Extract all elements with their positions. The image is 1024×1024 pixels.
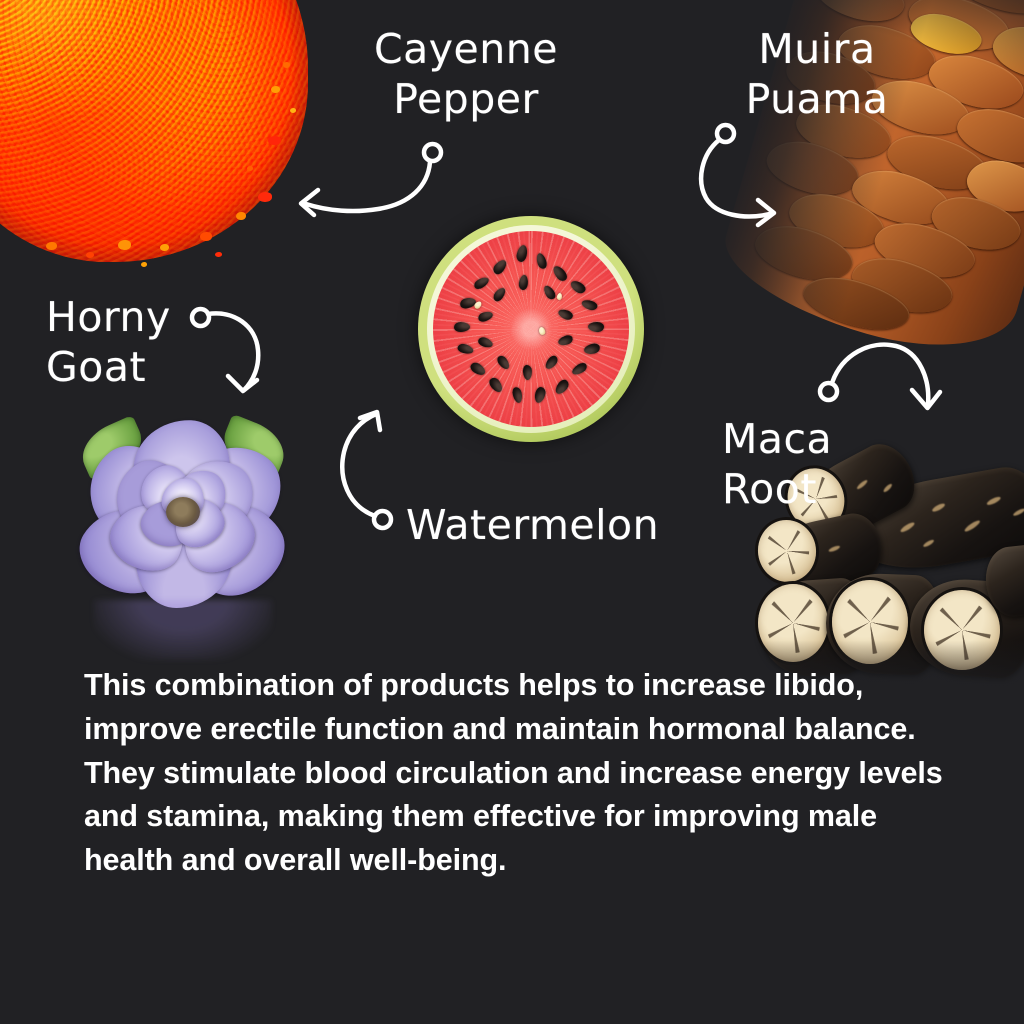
arrow-maca-root	[812, 338, 952, 428]
label-cayenne-pepper: Cayenne Pepper	[346, 24, 586, 124]
watermelon-core	[504, 302, 558, 356]
label-watermelon: Watermelon	[406, 500, 706, 550]
maca-cut-face-front-mid	[832, 580, 908, 664]
arrow-cayenne-pepper	[280, 132, 455, 227]
arrow-muira-puama	[692, 118, 802, 228]
infographic-canvas: Cayenne Pepper Muira Puama Horny Goat Ma…	[0, 0, 1024, 1024]
maca-cut-face-front-left	[758, 584, 828, 662]
arrow-watermelon	[330, 404, 410, 534]
maca-cut-face-front-right	[924, 590, 1000, 670]
flower-stamen	[166, 497, 200, 527]
arrow-horny-goat	[186, 302, 276, 402]
description-paragraph: This combination of products helps to in…	[84, 664, 962, 883]
flower-reflection	[94, 600, 272, 660]
label-maca-root: Maca Root	[722, 414, 902, 514]
label-muira-puama: Muira Puama	[722, 24, 912, 124]
watermelon-flesh	[433, 231, 629, 427]
watermelon-slice-photo	[418, 216, 644, 442]
horny-goat-weed-flower-photo	[78, 404, 288, 612]
